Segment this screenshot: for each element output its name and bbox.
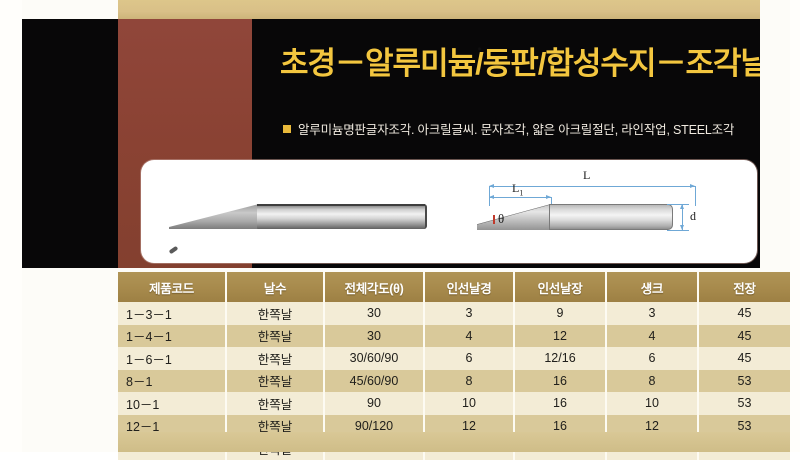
cell-angle: 30 bbox=[324, 302, 424, 325]
cell-code: 1－6－1 bbox=[118, 347, 226, 370]
cell-angle: 30 bbox=[324, 325, 424, 348]
cell-total-len: 53 bbox=[698, 370, 790, 393]
table-header-row: 제품코드 날수 전체각도(θ) 인선날경 인선날장 섕크 전장 bbox=[118, 272, 790, 302]
photo-speck bbox=[169, 246, 179, 254]
col-header-total-len: 전장 bbox=[698, 272, 790, 302]
cell-blades: 한쪽날 bbox=[226, 325, 324, 348]
dim-label-d: d bbox=[690, 209, 696, 224]
cell-edge-len: 12 bbox=[514, 325, 606, 348]
top-gold-strip bbox=[118, 0, 760, 19]
dim-tick-d-bottom bbox=[667, 230, 689, 231]
bit-tip-shape bbox=[169, 204, 259, 229]
dim-arrow-L1-left bbox=[489, 195, 494, 199]
dim-tick-d-top bbox=[667, 204, 689, 205]
table-row: 10－1 한쪽날 90 10 16 10 53 bbox=[118, 392, 790, 415]
bit-shank-shape bbox=[257, 204, 427, 229]
cell-code: 10－1 bbox=[118, 392, 226, 415]
col-header-edge-dia: 인선날경 bbox=[424, 272, 514, 302]
table-row: 1－6－1 한쪽날 30/60/90 6 12/16 6 45 bbox=[118, 347, 790, 370]
dim-label-L1: L1 bbox=[512, 181, 523, 197]
cell-total-len: 45 bbox=[698, 325, 790, 348]
cell-blades: 한쪽날 bbox=[226, 347, 324, 370]
cell-edge-len: 16 bbox=[514, 392, 606, 415]
cell-shank: 4 bbox=[606, 325, 698, 348]
cell-angle: 90 bbox=[324, 392, 424, 415]
diagram-tool-taper bbox=[477, 204, 551, 230]
paper-margin-left bbox=[0, 0, 22, 452]
cell-edge-dia: 6 bbox=[424, 347, 514, 370]
hero-panel: 초경－알루미늄/동판/합성수지－조각날 알루미늄명판글자조각. 아크릴글씨. 문… bbox=[22, 19, 760, 268]
product-image-panel: L L1 θ d bbox=[141, 160, 757, 263]
cell-edge-dia: 3 bbox=[424, 302, 514, 325]
cell-edge-dia: 4 bbox=[424, 325, 514, 348]
cell-total-len: 53 bbox=[698, 392, 790, 415]
table-row: 8－1 한쪽날 45/60/90 8 16 8 53 bbox=[118, 370, 790, 393]
table-row: 1－4－1 한쪽날 30 4 12 4 45 bbox=[118, 325, 790, 348]
subtitle-row: 알루미늄명판글자조각. 아크릴글씨. 문자조각, 얇은 아크릴절단, 라인작업,… bbox=[283, 119, 734, 138]
col-header-blades: 날수 bbox=[226, 272, 324, 302]
dim-label-theta: θ bbox=[498, 211, 504, 227]
cell-angle: 45/60/90 bbox=[324, 370, 424, 393]
dim-label-L: L bbox=[583, 168, 590, 183]
cell-blades: 한쪽날 bbox=[226, 302, 324, 325]
engraving-bit-photo bbox=[161, 168, 441, 258]
cell-shank: 3 bbox=[606, 302, 698, 325]
cell-total-len: 45 bbox=[698, 302, 790, 325]
angle-mark bbox=[493, 215, 495, 224]
col-header-shank: 섕크 bbox=[606, 272, 698, 302]
col-header-edge-len: 인선날장 bbox=[514, 272, 606, 302]
table-row: 1－3－1 한쪽날 30 3 9 3 45 bbox=[118, 302, 790, 325]
technical-diagram: L L1 θ d bbox=[471, 164, 741, 259]
cell-blades: 한쪽날 bbox=[226, 392, 324, 415]
col-header-code: 제품코드 bbox=[118, 272, 226, 302]
paper-margin-right bbox=[790, 0, 800, 452]
col-header-angle: 전체각도(θ) bbox=[324, 272, 424, 302]
cell-total-len: 45 bbox=[698, 347, 790, 370]
dim-tick-L-right bbox=[695, 186, 696, 206]
cell-shank: 8 bbox=[606, 370, 698, 393]
dim-label-L1-sub: 1 bbox=[519, 188, 523, 197]
cell-blades: 한쪽날 bbox=[226, 370, 324, 393]
cell-code: 1－4－1 bbox=[118, 325, 226, 348]
bottom-gold-strip bbox=[118, 432, 790, 452]
cell-edge-len: 16 bbox=[514, 370, 606, 393]
cell-edge-dia: 8 bbox=[424, 370, 514, 393]
square-bullet-icon bbox=[283, 125, 291, 133]
diagram-tool-body bbox=[549, 204, 673, 230]
cell-code: 8－1 bbox=[118, 370, 226, 393]
subtitle-text: 알루미늄명판글자조각. 아크릴글씨. 문자조각, 얇은 아크릴절단, 라인작업,… bbox=[298, 119, 734, 138]
cell-code: 1－3－1 bbox=[118, 302, 226, 325]
cell-edge-dia: 10 bbox=[424, 392, 514, 415]
cell-shank: 6 bbox=[606, 347, 698, 370]
cell-edge-len: 9 bbox=[514, 302, 606, 325]
cell-edge-len: 12/16 bbox=[514, 347, 606, 370]
catalog-page: 초경－알루미늄/동판/합성수지－조각날 알루미늄명판글자조각. 아크릴글씨. 문… bbox=[0, 0, 800, 452]
page-title: 초경－알루미늄/동판/합성수지－조각날 bbox=[280, 46, 750, 82]
cell-angle: 30/60/90 bbox=[324, 347, 424, 370]
cell-shank: 10 bbox=[606, 392, 698, 415]
